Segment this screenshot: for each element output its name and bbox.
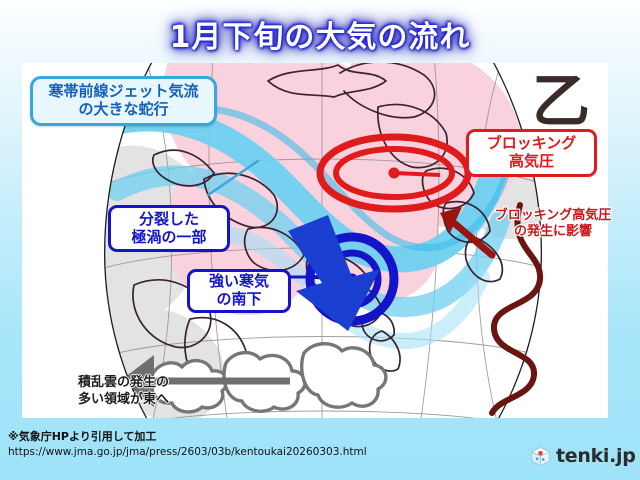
callout-polar-vortex[interactable]: 分裂した 極渦の一部 bbox=[108, 205, 230, 252]
footer: ※気象庁HPより引用して加工 https://www.jma.go.jp/jma… bbox=[8, 430, 478, 459]
tenki-cube-icon bbox=[530, 446, 551, 467]
annotation-cumulonimbus: 積乱雲の発生の 多い領域が東へ bbox=[78, 375, 248, 409]
callout-blocking-high[interactable]: ブロッキング 高気圧 bbox=[466, 129, 597, 177]
page-title: 1月下旬の大気の流れ bbox=[0, 12, 640, 56]
annotation-blocking-effect: ブロッキング高気圧 の発生に影響 bbox=[470, 208, 636, 240]
callout-cold-air[interactable]: 強い寒気 の南下 bbox=[187, 269, 291, 313]
tenki-jp-logo[interactable]: tenki.jp bbox=[530, 445, 636, 467]
slide-root: 1月下旬の大気の流れ bbox=[0, 0, 640, 480]
source-url[interactable]: https://www.jma.go.jp/jma/press/2603/03b… bbox=[8, 445, 478, 459]
callout-jet-stream[interactable]: 寒帯前線ジェット気流 の大きな蛇行 bbox=[30, 76, 217, 126]
tenki-jp-wordmark: tenki.jp bbox=[556, 445, 636, 467]
low-pressure-kana-symbol: 乙 bbox=[532, 67, 590, 135]
source-note: ※気象庁HPより引用して加工 bbox=[8, 430, 478, 445]
